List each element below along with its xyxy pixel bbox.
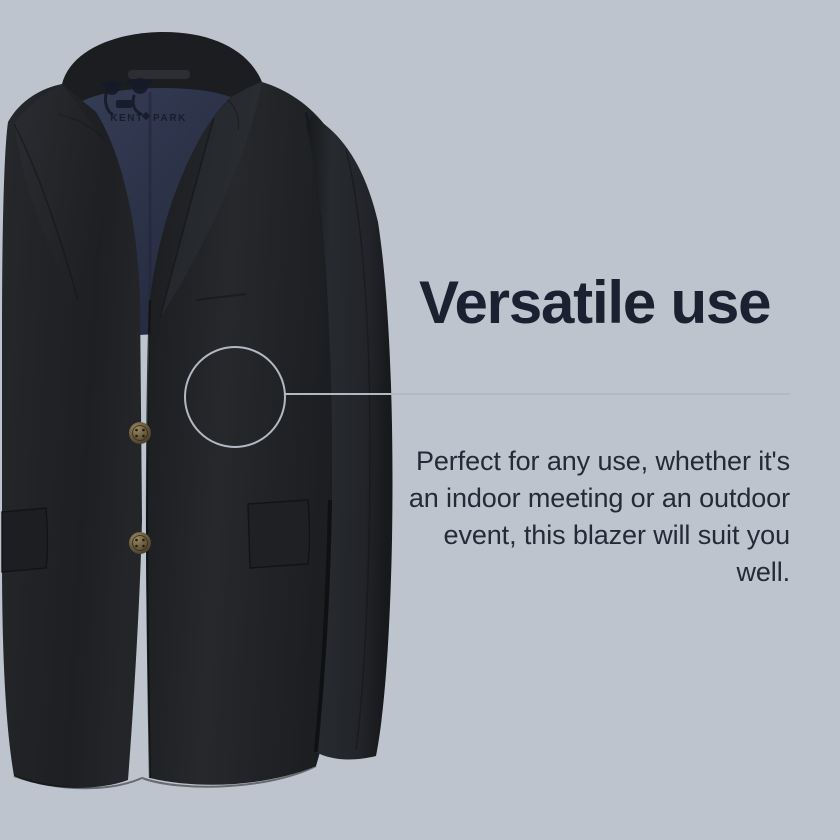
product-feature-card: KENT PARK [0,0,840,840]
body-description: Perfect for any use, whether it's an ind… [389,443,790,591]
hanger-loop [128,70,190,79]
svg-text:KENT: KENT [110,113,144,124]
front-button-upper [129,422,151,444]
pocket-flap-right [248,500,310,568]
product-photo: KENT PARK [0,0,420,840]
page-title: Versatile use [419,272,790,334]
svg-text:PARK: PARK [153,113,187,124]
pocket-flap-left [2,508,48,572]
text-panel: Versatile use Perfect for any use, wheth… [419,0,790,840]
front-button-lower [129,532,151,554]
